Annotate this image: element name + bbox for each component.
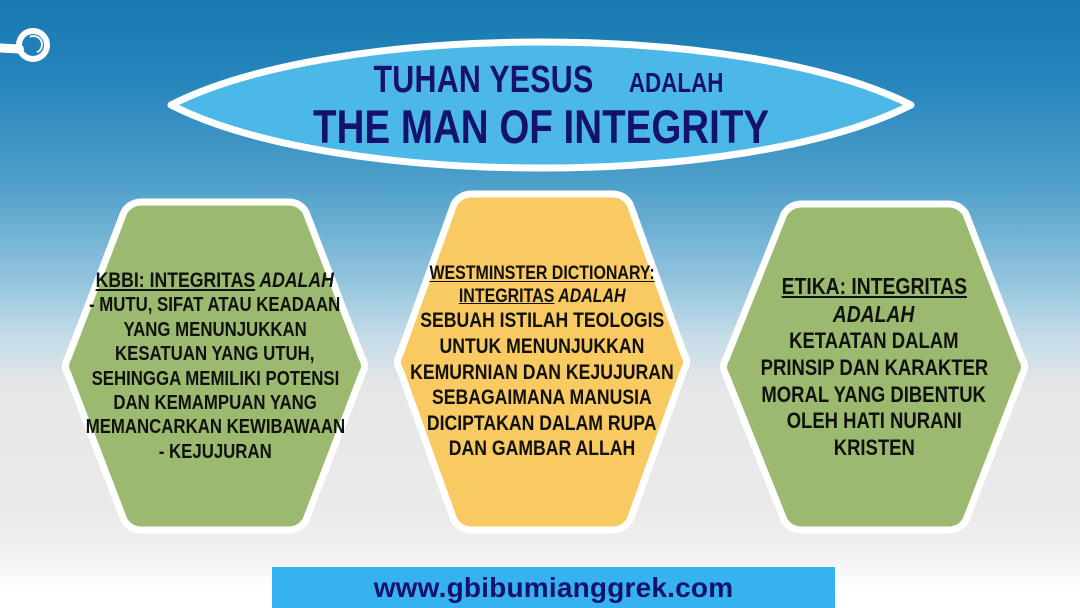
slide-canvas: TUHAN YESUSADALAH THE MAN OF INTEGRITY K… xyxy=(0,0,1080,608)
hex-heading-adalah: ADALAH xyxy=(554,286,625,307)
hex-line: OLEH HATI NURANI xyxy=(786,408,961,435)
hex-line: - MUTU, SIFAT ATAU KEADAAN xyxy=(89,293,340,317)
title-banner: TUHAN YESUSADALAH THE MAN OF INTEGRITY xyxy=(166,29,916,181)
hexagon-text-etika: ETIKA: INTEGRITAS ADALAH KETAATAN DALAM … xyxy=(718,198,1030,536)
website-url-bar[interactable]: www.gbibumianggrek.com xyxy=(272,567,835,608)
hexagon-card-etika: ETIKA: INTEGRITAS ADALAH KETAATAN DALAM … xyxy=(718,198,1030,536)
hex-line: ETIKA: INTEGRITAS xyxy=(781,272,966,300)
hex-heading-line: KBBI: INTEGRITAS ADALAH xyxy=(96,268,334,294)
hex-heading-term: INTEGRITAS xyxy=(459,286,554,307)
hexagon-card-westminster: WESTMINSTER DICTIONARY: INTEGRITAS ADALA… xyxy=(392,188,692,536)
hex-line: ADALAH xyxy=(833,300,915,328)
hex-heading-source: KBBI: INTEGRITAS xyxy=(96,269,255,292)
hex-line: KEMURNIAN DAN KEJUJURAN xyxy=(410,360,674,386)
hex-line: SEHINGGA MEMILIKI POTENSI xyxy=(91,367,339,391)
hex-line: DAN KEMAMPUAN YANG xyxy=(113,391,316,415)
hex-line: SEBUAH ISTILAH TEOLOGIS xyxy=(420,308,664,334)
hex-line: DAN GAMBAR ALLAH xyxy=(449,436,636,462)
hex-line: WESTMINSTER DICTIONARY: xyxy=(429,262,654,285)
hexagon-text-kbbi: KBBI: INTEGRITAS ADALAH - MUTU, SIFAT AT… xyxy=(60,196,370,536)
title-banner-text: TUHAN YESUSADALAH THE MAN OF INTEGRITY xyxy=(166,29,916,181)
title-sub-text: ADALAH xyxy=(629,69,724,97)
hex-line: MORAL YANG DIBENTUK xyxy=(762,382,987,409)
hex-heading-line: INTEGRITAS ADALAH xyxy=(459,285,626,308)
hexagon-text-westminster: WESTMINSTER DICTIONARY: INTEGRITAS ADALA… xyxy=(392,188,692,536)
hex-line: UNTUK MENUNJUKKAN xyxy=(440,334,645,360)
hex-line: YANG MENUNJUKKAN xyxy=(123,318,306,342)
hex-line: SEBAGAIMANA MANUSIA xyxy=(432,385,652,411)
hex-line: - KEJUJURAN xyxy=(159,440,272,464)
hexagon-card-kbbi: KBBI: INTEGRITAS ADALAH - MUTU, SIFAT AT… xyxy=(60,196,370,536)
hex-line: DICIPTAKAN DALAM RUPA xyxy=(427,411,657,437)
title-line-two: THE MAN OF INTEGRITY xyxy=(313,103,769,150)
website-url-text: www.gbibumianggrek.com xyxy=(374,572,734,604)
hex-line: KETAATAN DALAM xyxy=(789,328,958,355)
hex-line: KESATUAN YANG UTUH, xyxy=(115,342,314,366)
title-main-text: TUHAN YESUS xyxy=(374,61,594,99)
hex-line: MEMANCARKAN KEWIBAWAAN xyxy=(85,415,344,439)
hex-heading-adalah: ADALAH xyxy=(255,269,334,292)
hex-line: KRISTEN xyxy=(833,435,914,462)
title-line-one: TUHAN YESUSADALAH xyxy=(346,61,735,99)
hex-line: PRINSIP DAN KARAKTER xyxy=(760,355,988,382)
magnifier-ring-icon xyxy=(0,22,74,78)
